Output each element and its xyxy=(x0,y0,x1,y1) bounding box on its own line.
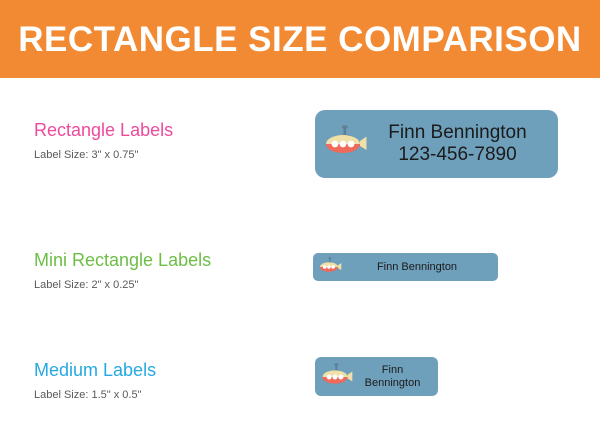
label-name-text: Finn Bennington xyxy=(342,261,492,274)
comparison-row-rectangle: Rectangle Labels Label Size: 3" x 0.75" … xyxy=(0,108,600,218)
row-size-text: Label Size: 3" x 0.75" xyxy=(34,149,296,162)
row-info: Mini Rectangle Labels Label Size: 2" x 0… xyxy=(34,250,296,292)
submarine-icon xyxy=(318,257,342,277)
row-title: Rectangle Labels xyxy=(34,120,296,141)
label-name-line2: 123-456-7890 xyxy=(367,144,548,166)
row-info: Rectangle Labels Label Size: 3" x 0.75" xyxy=(34,120,296,162)
row-info: Medium Labels Label Size: 1.5" x 0.5" xyxy=(34,360,296,402)
row-size-text: Label Size: 1.5" x 0.5" xyxy=(34,389,296,402)
row-size-text: Label Size: 2" x 0.25" xyxy=(34,279,296,292)
submarine-icon xyxy=(323,125,367,163)
row-title: Mini Rectangle Labels xyxy=(34,250,296,271)
row-title: Medium Labels xyxy=(34,360,296,381)
label-preview-mini-rectangle[interactable]: Finn Bennington xyxy=(313,253,498,281)
label-name-line1: Finn Bennington xyxy=(388,122,526,143)
header-band: RECTANGLE SIZE COMPARISON xyxy=(0,0,600,78)
comparison-row-medium: Medium Labels Label Size: 1.5" x 0.5" Fi… xyxy=(0,348,600,438)
submarine-icon xyxy=(320,363,353,391)
comparison-row-mini-rectangle: Mini Rectangle Labels Label Size: 2" x 0… xyxy=(0,238,600,338)
label-name-text: Finn Bennington xyxy=(353,364,432,389)
page-title: RECTANGLE SIZE COMPARISON xyxy=(18,22,581,57)
label-name-line1: Finn xyxy=(382,364,403,376)
label-name-line2: Bennington xyxy=(353,377,432,390)
label-name-text: Finn Bennington 123-456-7890 xyxy=(367,122,548,166)
label-name-line1: Finn Bennington xyxy=(377,261,457,273)
label-preview-rectangle[interactable]: Finn Bennington 123-456-7890 xyxy=(315,110,558,178)
label-preview-medium[interactable]: Finn Bennington xyxy=(315,357,438,396)
